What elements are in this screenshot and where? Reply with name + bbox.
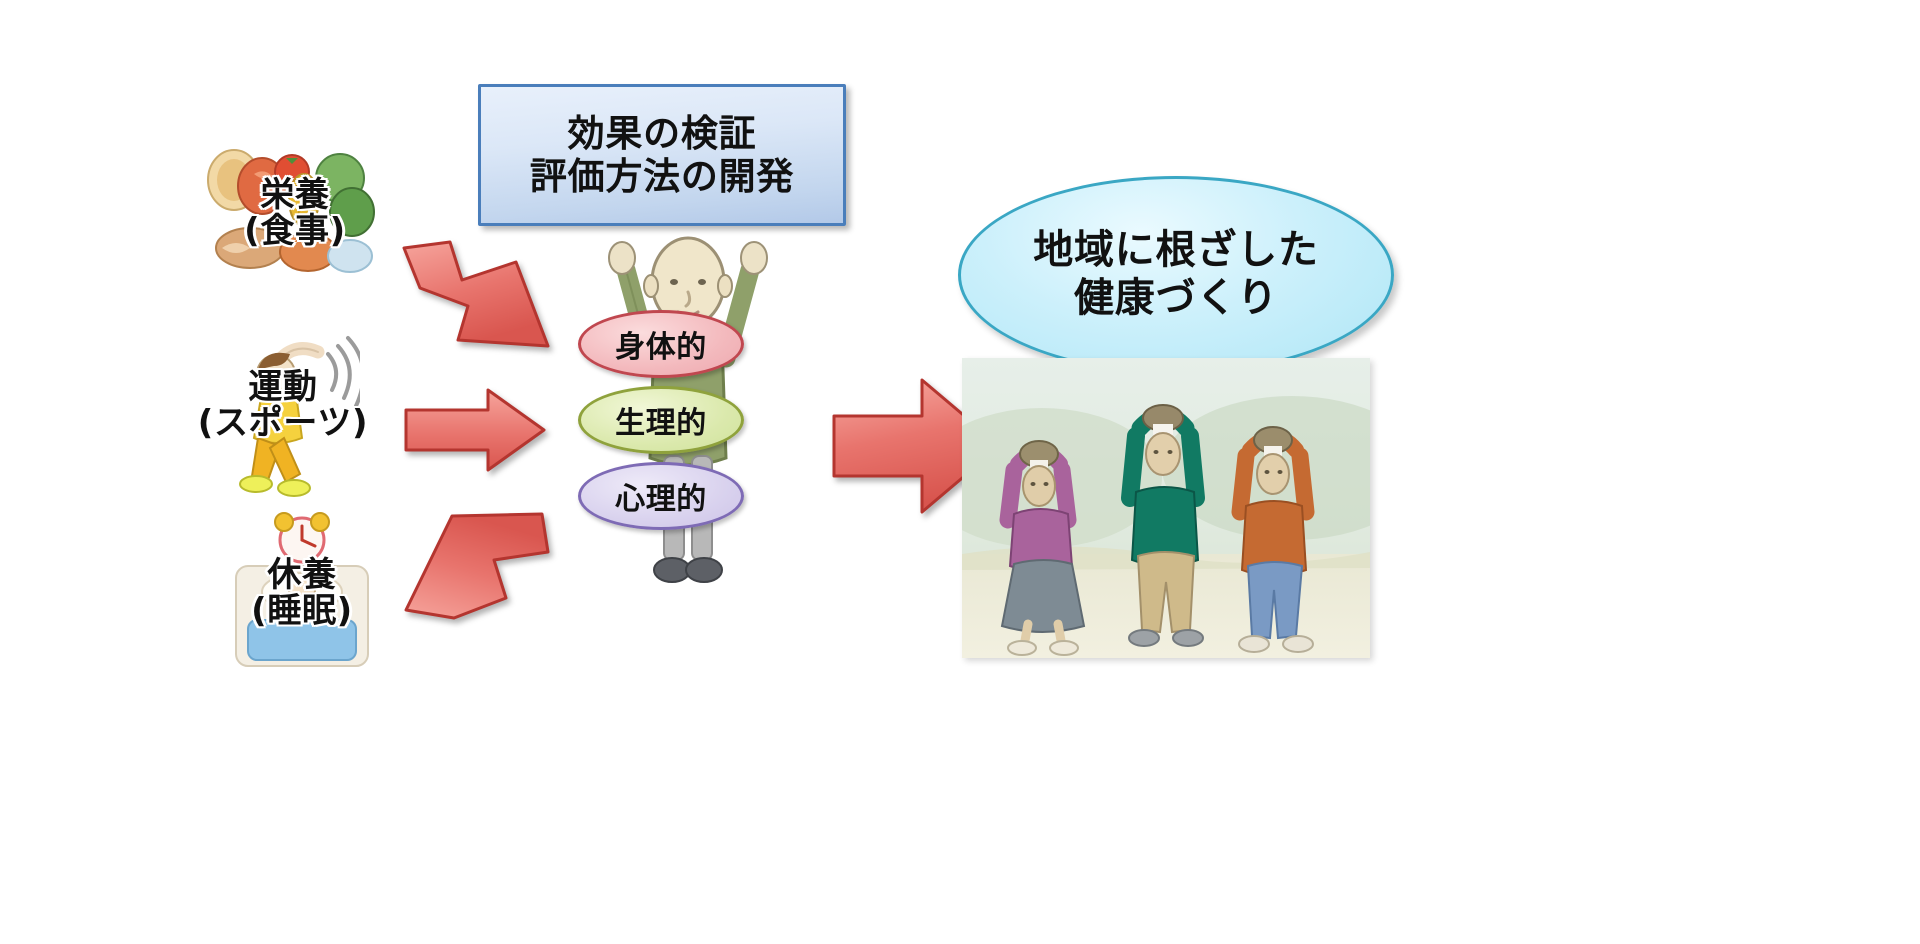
effect-verification-line-1: 効果の検証 xyxy=(568,113,757,154)
badge-psychological: 心理的 xyxy=(578,462,744,530)
arrow-nutrition-to-center xyxy=(398,236,568,366)
exercise-label-line-2: (スポーツ) xyxy=(198,406,368,442)
exercise-label: 運動 (スポーツ) xyxy=(168,370,398,441)
arrow-rest-to-center xyxy=(396,506,572,630)
badge-physical-label: 身体的 xyxy=(615,322,707,366)
effect-verification-line-2: 評価方法の開発 xyxy=(530,156,794,197)
nutrition-label-line-1: 栄養 xyxy=(260,178,329,214)
outcome-ellipse: 地域に根ざした 健康づくり xyxy=(958,176,1394,374)
badge-physical: 身体的 xyxy=(578,310,744,378)
outcome-line-2: 健康づくり xyxy=(1074,276,1278,322)
nutrition-label-line-2: (食事) xyxy=(244,214,346,250)
seniors-stretching-illustration xyxy=(962,358,1370,658)
rest-label-line-1: 休養 xyxy=(267,558,336,594)
nutrition-label: 栄養 (食事) xyxy=(210,178,380,249)
effect-verification-box: 効果の検証 評価方法の開発 xyxy=(478,84,846,226)
diagram-canvas: 効果の検証 評価方法の開発 栄養 (食事) xyxy=(0,0,1920,944)
arrow-exercise-to-center xyxy=(400,384,550,476)
rest-label: 休養 (睡眠) xyxy=(202,558,402,629)
outcome-line-1: 地域に根ざした xyxy=(1033,228,1319,274)
rest-label-line-2: (睡眠) xyxy=(251,594,353,630)
badge-psychological-label: 心理的 xyxy=(615,474,707,518)
badge-physiological-label: 生理的 xyxy=(615,398,707,442)
exercise-label-line-1: 運動 xyxy=(248,370,317,406)
badge-physiological: 生理的 xyxy=(578,386,744,454)
